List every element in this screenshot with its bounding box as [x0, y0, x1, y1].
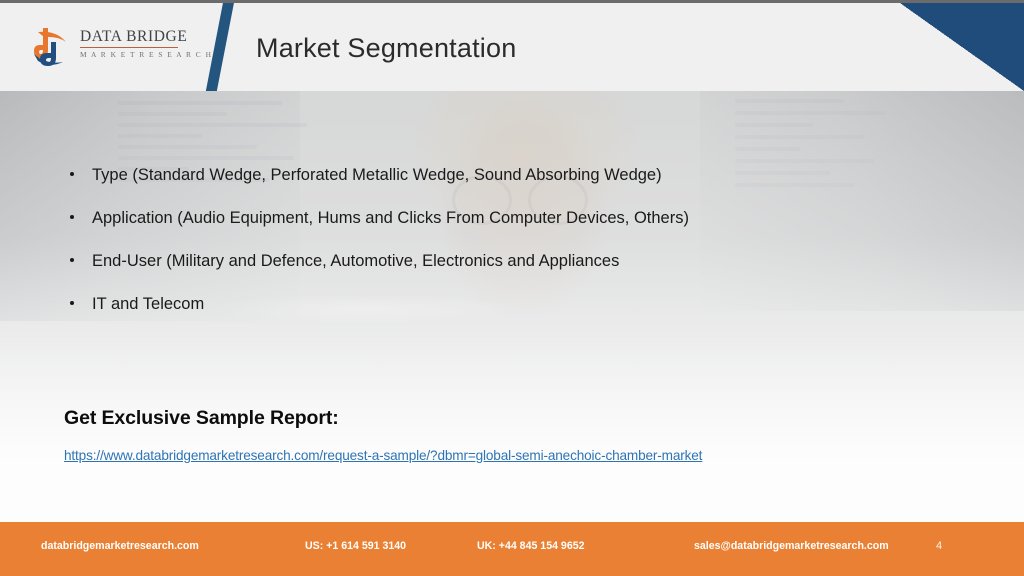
slide-footer: databridgemarketresearch.com US: +1 614 …: [0, 522, 1024, 576]
page-title: Market Segmentation: [256, 33, 516, 64]
header-diagonal-accent: [204, 3, 235, 91]
slide-content: Type (Standard Wedge, Perforated Metalli…: [0, 91, 1024, 522]
bullet-dot-icon: [70, 215, 74, 219]
cta-heading: Get Exclusive Sample Report:: [64, 407, 339, 430]
header-corner-triangle: [900, 3, 1024, 91]
bullet-dot-icon: [70, 258, 74, 262]
logo-tagline: M A R K E T R E S E A R C H: [80, 50, 180, 59]
list-item: End-User (Military and Defence, Automoti…: [66, 249, 766, 274]
logo-divider: [80, 47, 178, 48]
list-item-text: Application (Audio Equipment, Hums and C…: [92, 209, 689, 227]
sample-report-link[interactable]: https://www.databridgemarketresearch.com…: [64, 445, 764, 466]
list-item: Application (Audio Equipment, Hums and C…: [66, 206, 766, 231]
slide: DATA BRIDGE M A R K E T R E S E A R C H …: [0, 0, 1024, 576]
bullet-dot-icon: [70, 301, 74, 305]
logo-wordmark: DATA BRIDGE M A R K E T R E S E A R C H: [80, 28, 180, 59]
company-logo: DATA BRIDGE M A R K E T R E S E A R C H: [30, 22, 180, 74]
logo-company-name: DATA BRIDGE: [80, 28, 180, 45]
slide-header: DATA BRIDGE M A R K E T R E S E A R C H …: [0, 3, 1024, 91]
list-item-text: Type (Standard Wedge, Perforated Metalli…: [92, 166, 662, 184]
list-item: Type (Standard Wedge, Perforated Metalli…: [66, 163, 766, 188]
data-bridge-logo-icon: [30, 24, 76, 70]
slide-page-number: 4: [936, 540, 942, 552]
footer-website[interactable]: databridgemarketresearch.com: [41, 540, 199, 552]
footer-email[interactable]: sales@databridgemarketresearch.com: [694, 540, 889, 552]
footer-us-phone: US: +1 614 591 3140: [305, 540, 406, 552]
list-item-text: IT and Telecom: [92, 295, 204, 313]
list-item-text: End-User (Military and Defence, Automoti…: [92, 252, 619, 270]
bullet-dot-icon: [70, 172, 74, 176]
footer-uk-phone: UK: +44 845 154 9652: [477, 540, 585, 552]
segmentation-bullet-list: Type (Standard Wedge, Perforated Metalli…: [66, 163, 766, 335]
list-item: IT and Telecom: [66, 292, 766, 317]
